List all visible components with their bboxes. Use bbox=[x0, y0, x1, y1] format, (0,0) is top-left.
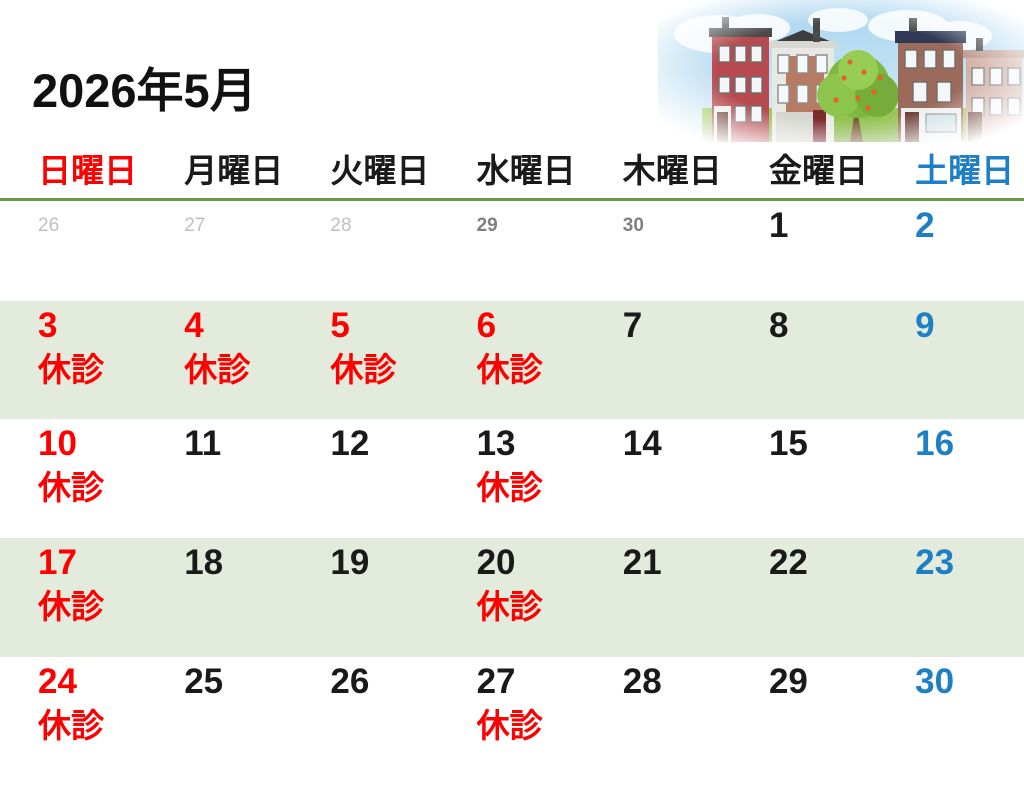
day-number: 26 bbox=[330, 661, 438, 703]
day-cell[interactable]: 6 休診 bbox=[439, 301, 585, 419]
weekday-wednesday: 水曜日 bbox=[439, 152, 585, 190]
day-number: 14 bbox=[623, 423, 731, 465]
day-number: 11 bbox=[184, 423, 292, 465]
closed-note: 休診 bbox=[38, 586, 146, 628]
day-number: 4 bbox=[184, 305, 292, 347]
day-number: 10 bbox=[38, 423, 146, 465]
day-number: 23 bbox=[915, 542, 1023, 584]
day-cell[interactable]: 27 bbox=[146, 201, 292, 301]
day-number: 26 bbox=[38, 205, 146, 247]
closed-note: 休診 bbox=[477, 586, 585, 628]
day-number: 17 bbox=[38, 542, 146, 584]
closed-note: 休診 bbox=[38, 705, 146, 747]
day-cell[interactable]: 28 bbox=[585, 657, 731, 779]
day-cell[interactable]: 17 休診 bbox=[0, 538, 146, 657]
closed-note: 休診 bbox=[38, 349, 146, 391]
day-number: 28 bbox=[623, 661, 731, 703]
day-number: 16 bbox=[915, 423, 1023, 465]
day-number: 28 bbox=[330, 205, 438, 247]
day-number: 13 bbox=[477, 423, 585, 465]
week-row: 10 休診 11 12 13 休診 14 15 16 bbox=[0, 419, 1024, 538]
day-number: 3 bbox=[38, 305, 146, 347]
day-cell[interactable]: 26 bbox=[292, 657, 438, 779]
weekday-monday: 月曜日 bbox=[146, 152, 292, 190]
day-number: 19 bbox=[330, 542, 438, 584]
weekday-sunday: 日曜日 bbox=[0, 152, 146, 190]
day-cell[interactable]: 2 bbox=[877, 201, 1023, 301]
day-number: 2 bbox=[915, 205, 1023, 247]
day-number: 24 bbox=[38, 661, 146, 703]
header-illustration bbox=[658, 0, 1024, 142]
townhouses-illustration bbox=[658, 0, 1024, 142]
day-number: 20 bbox=[477, 542, 585, 584]
day-number: 12 bbox=[330, 423, 438, 465]
day-cell[interactable]: 18 bbox=[146, 538, 292, 657]
closed-note: 休診 bbox=[477, 349, 585, 391]
day-cell[interactable]: 21 bbox=[585, 538, 731, 657]
day-number: 5 bbox=[330, 305, 438, 347]
closed-note: 休診 bbox=[330, 349, 438, 391]
day-cell[interactable]: 29 bbox=[731, 657, 877, 779]
calendar-grid: 日曜日 月曜日 火曜日 水曜日 木曜日 金曜日 土曜日 26 27 28 29 … bbox=[0, 152, 1024, 779]
day-number: 30 bbox=[623, 205, 731, 247]
day-cell[interactable]: 10 休診 bbox=[0, 419, 146, 538]
day-number: 1 bbox=[769, 205, 877, 247]
day-cell[interactable]: 24 休診 bbox=[0, 657, 146, 779]
day-number: 27 bbox=[477, 661, 585, 703]
day-cell[interactable]: 4 休診 bbox=[146, 301, 292, 419]
weekday-saturday: 土曜日 bbox=[877, 152, 1023, 190]
day-cell[interactable]: 16 bbox=[877, 419, 1023, 538]
weekday-header-row: 日曜日 月曜日 火曜日 水曜日 木曜日 金曜日 土曜日 bbox=[0, 152, 1024, 198]
weekday-thursday: 木曜日 bbox=[585, 152, 731, 190]
day-cell[interactable]: 25 bbox=[146, 657, 292, 779]
day-cell[interactable]: 27 休診 bbox=[439, 657, 585, 779]
day-cell[interactable]: 26 bbox=[0, 201, 146, 301]
day-cell[interactable]: 3 休診 bbox=[0, 301, 146, 419]
day-cell[interactable]: 20 休診 bbox=[439, 538, 585, 657]
week-row: 3 休診 4 休診 5 休診 6 休診 7 8 9 bbox=[0, 301, 1024, 419]
day-cell[interactable]: 5 休診 bbox=[292, 301, 438, 419]
day-number: 18 bbox=[184, 542, 292, 584]
day-number: 7 bbox=[623, 305, 731, 347]
day-number: 27 bbox=[184, 205, 292, 247]
day-cell[interactable]: 30 bbox=[877, 657, 1023, 779]
day-cell[interactable]: 15 bbox=[731, 419, 877, 538]
week-row: 26 27 28 29 30 1 2 bbox=[0, 201, 1024, 301]
week-row: 24 休診 25 26 27 休診 28 29 30 bbox=[0, 657, 1024, 779]
day-cell[interactable]: 28 bbox=[292, 201, 438, 301]
day-cell[interactable]: 9 bbox=[877, 301, 1023, 419]
day-number: 29 bbox=[477, 205, 585, 247]
closed-note: 休診 bbox=[38, 467, 146, 509]
day-number: 30 bbox=[915, 661, 1023, 703]
day-cell[interactable]: 30 bbox=[585, 201, 731, 301]
day-number: 29 bbox=[769, 661, 877, 703]
day-number: 25 bbox=[184, 661, 292, 703]
day-cell[interactable]: 11 bbox=[146, 419, 292, 538]
closed-note: 休診 bbox=[477, 467, 585, 509]
week-row: 17 休診 18 19 20 休診 21 22 23 bbox=[0, 538, 1024, 657]
day-number: 8 bbox=[769, 305, 877, 347]
day-cell[interactable]: 1 bbox=[731, 201, 877, 301]
page-title: 2026年5月 bbox=[32, 52, 257, 121]
day-cell[interactable]: 19 bbox=[292, 538, 438, 657]
weekday-tuesday: 火曜日 bbox=[292, 152, 438, 190]
day-cell[interactable]: 29 bbox=[439, 201, 585, 301]
day-number: 22 bbox=[769, 542, 877, 584]
day-number: 15 bbox=[769, 423, 877, 465]
day-number: 6 bbox=[477, 305, 585, 347]
day-cell[interactable]: 13 休診 bbox=[439, 419, 585, 538]
day-number: 9 bbox=[915, 305, 1023, 347]
day-cell[interactable]: 7 bbox=[585, 301, 731, 419]
closed-note: 休診 bbox=[184, 349, 292, 391]
day-cell[interactable]: 8 bbox=[731, 301, 877, 419]
day-cell[interactable]: 22 bbox=[731, 538, 877, 657]
day-number: 21 bbox=[623, 542, 731, 584]
day-cell[interactable]: 12 bbox=[292, 419, 438, 538]
closed-note: 休診 bbox=[477, 705, 585, 747]
day-cell[interactable]: 14 bbox=[585, 419, 731, 538]
day-cell[interactable]: 23 bbox=[877, 538, 1023, 657]
weekday-friday: 金曜日 bbox=[731, 152, 877, 190]
